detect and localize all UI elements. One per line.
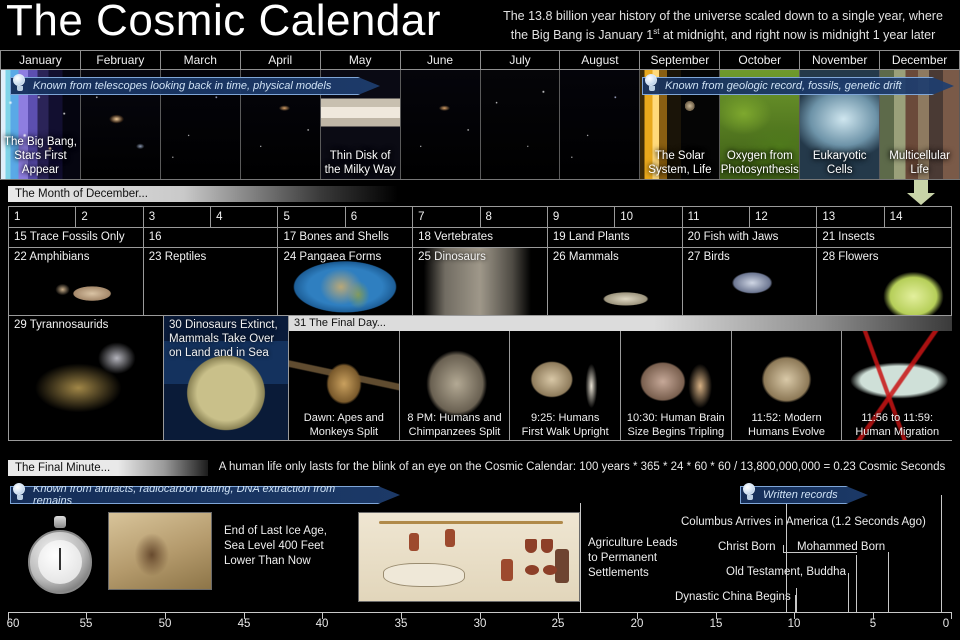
leader-line-columbus xyxy=(941,495,942,613)
day-cell-10[interactable]: 10 xyxy=(615,207,682,227)
tick-label: 15 xyxy=(710,618,723,630)
day-label: 14 xyxy=(885,207,951,224)
leader-line-agriculture xyxy=(580,503,581,613)
day-label: 29 Tyrannosaurids xyxy=(9,316,163,332)
day-label: 16 xyxy=(144,228,278,244)
day-label: 9 xyxy=(548,207,614,224)
caption-big-bang: The Big Bang,Stars First Appear xyxy=(1,135,80,177)
day-label: 3 xyxy=(144,207,210,224)
stopwatch-hand xyxy=(59,548,61,570)
year-cell-june xyxy=(401,70,481,179)
day-label: 10 xyxy=(615,207,681,224)
day-cell-5[interactable]: 5 xyxy=(278,207,345,227)
month-march[interactable]: March xyxy=(161,51,241,69)
day-label: 11 xyxy=(683,207,749,224)
day-cell-3[interactable]: 3 xyxy=(144,207,211,227)
banner-artifacts: Known from artifacts, radiocarbon dating… xyxy=(10,486,400,504)
day-cell-8[interactable]: 8 xyxy=(481,207,548,227)
day-cell-18[interactable]: 18 Vertebrates xyxy=(413,228,548,247)
day-cell-17[interactable]: 17 Bones and Shells xyxy=(278,228,413,247)
page-title: The Cosmic Calendar xyxy=(6,0,441,46)
month-november[interactable]: November xyxy=(800,51,880,69)
year-cell-august xyxy=(560,70,640,179)
december-arrow-shaft xyxy=(914,180,928,194)
december-days-22-28-row: 22 Amphibians 23 Reptiles 24 Pangaea For… xyxy=(8,247,952,315)
day-label: 1 xyxy=(9,207,75,224)
december-days-15-21-row: 15 Trace Fossils Only 16 17 Bones and Sh… xyxy=(8,227,952,247)
day-cell-14[interactable]: 14 xyxy=(885,207,952,227)
tick-label: 40 xyxy=(316,618,329,630)
caption-solar-system: The SolarSystem, Life xyxy=(640,149,719,177)
month-header-row: January February March April May June Ju… xyxy=(0,50,960,70)
day-label: 6 xyxy=(346,207,412,224)
day-label: 12 xyxy=(750,207,816,224)
lightbulb-icon-written xyxy=(743,483,756,503)
day-label: 22 Amphibians xyxy=(9,248,143,264)
day-cell-6[interactable]: 6 xyxy=(346,207,413,227)
banner-telescopes: Known from telescopes looking back in ti… xyxy=(10,77,380,95)
day-label: 28 Flowers xyxy=(817,248,951,264)
day-label: 18 Vertebrates xyxy=(413,228,547,244)
subtitle-line-2-post: at midnight, and right now is midnight 1… xyxy=(659,28,935,42)
day-label: 4 xyxy=(211,207,277,224)
month-december[interactable]: December xyxy=(880,51,960,69)
day-cell-21[interactable]: 21 Insects xyxy=(817,228,952,247)
month-june[interactable]: June xyxy=(401,51,481,69)
tick-label: 0 xyxy=(943,618,949,630)
tick-label: 5 xyxy=(870,618,876,630)
december-arrow-icon xyxy=(907,193,935,205)
day-label: 5 xyxy=(278,207,344,224)
tick-label: 60 xyxy=(7,618,20,630)
final-day-caption: 9:25: HumansFirst Walk Upright xyxy=(510,411,620,439)
tick-label: 20 xyxy=(631,618,644,630)
lightbulb-icon-telescopes xyxy=(13,74,26,94)
day-cell-24[interactable]: 24 Pangaea Forms xyxy=(278,248,413,315)
final-day-cell-dawn[interactable]: Dawn: Apes andMonkeys Split xyxy=(289,331,400,440)
day-cell-7[interactable]: 7 xyxy=(413,207,480,227)
final-day-cell-1030[interactable]: 10:30: Human BrainSize Begins Tripling xyxy=(621,331,732,440)
cosmic-calendar-infographic: The Cosmic Calendar The 13.8 billion yea… xyxy=(0,0,960,640)
leader-line-christ-stub xyxy=(783,545,784,553)
day-cell-4[interactable]: 4 xyxy=(211,207,278,227)
tick-label: 45 xyxy=(238,618,251,630)
leader-line-christ-horiz xyxy=(783,552,857,553)
day-label: 19 Land Plants xyxy=(548,228,682,244)
final-day-caption: 10:30: Human BrainSize Begins Tripling xyxy=(621,411,731,439)
tick-label: 25 xyxy=(552,618,565,630)
day-cell-1[interactable]: 1 xyxy=(9,207,76,227)
leader-line-old-testament xyxy=(848,573,849,613)
day-label: 20 Fish with Jaws xyxy=(683,228,817,244)
tyrannosaur-skeleton-image xyxy=(9,316,163,440)
day-label: 25 Dinosaurs xyxy=(413,248,547,264)
day-cell-12[interactable]: 12 xyxy=(750,207,817,227)
banner-artifacts-label: Known from artifacts, radiocarbon dating… xyxy=(33,483,374,507)
day-label: 23 Reptiles xyxy=(144,248,278,264)
tick-label: 10 xyxy=(788,618,801,630)
tick-label: 30 xyxy=(474,618,487,630)
final-day-strip: Dawn: Apes andMonkeys Split 8 PM: Humans… xyxy=(289,331,952,440)
final-day-caption: 8 PM: Humans andChimpanzees Split xyxy=(400,411,510,439)
banner-geologic: Known from geologic record, fossils, gen… xyxy=(642,77,954,95)
day-label: 21 Insects xyxy=(817,228,951,244)
month-february[interactable]: February xyxy=(81,51,161,69)
day-label: 27 Birds xyxy=(683,248,817,264)
month-september[interactable]: September xyxy=(640,51,720,69)
month-january[interactable]: January xyxy=(0,51,81,69)
tick-label: 35 xyxy=(395,618,408,630)
final-day-caption: 11:56 to 11:59:Human Migration xyxy=(842,411,952,439)
day-label: 26 Mammals xyxy=(548,248,682,264)
tick-label: 50 xyxy=(159,618,172,630)
lightbulb-icon-artifacts xyxy=(13,483,26,503)
lightbulb-icon-geologic xyxy=(645,74,658,94)
month-august[interactable]: August xyxy=(560,51,640,69)
subtitle-line-2-pre: the Big Bang is January 1 xyxy=(511,28,653,42)
stopwatch-image xyxy=(22,512,98,608)
day-cell-16[interactable]: 16 xyxy=(144,228,279,247)
december-days-1-14-row: 1 2 3 4 5 6 7 8 9 10 11 12 13 14 xyxy=(8,206,952,227)
egyptian-agriculture-image xyxy=(358,512,580,602)
ice-age-label: End of Last Ice Age,Sea Level 400 FeetLo… xyxy=(224,524,354,569)
month-april[interactable]: April xyxy=(241,51,321,69)
banner-written-label: Written records xyxy=(763,489,838,501)
day-cell-29[interactable]: 29 Tyrannosaurids xyxy=(9,316,164,440)
day-cell-13[interactable]: 13 xyxy=(817,207,884,227)
day-cell-20[interactable]: 20 Fish with Jaws xyxy=(683,228,818,247)
leader-line-mohammed xyxy=(888,552,889,613)
month-may[interactable]: May xyxy=(321,51,401,69)
december-grid: 1 2 3 4 5 6 7 8 9 10 11 12 13 14 15 Trac… xyxy=(8,206,952,441)
day-label: 7 xyxy=(413,207,479,224)
event-label-columbus: Columbus Arrives in America (1.2 Seconds… xyxy=(681,515,926,530)
stopwatch-face xyxy=(38,540,82,584)
day-cell-11[interactable]: 11 xyxy=(683,207,750,227)
final-day-cell-1156[interactable]: 11:56 to 11:59:Human Migration xyxy=(842,331,952,440)
stopwatch-body xyxy=(28,530,92,594)
day-cell-19[interactable]: 19 Land Plants xyxy=(548,228,683,247)
day-cell-30[interactable]: 30 Dinosaurs Extinct,Mammals Take Overon… xyxy=(164,316,289,440)
agriculture-label: Agriculture Leadsto PermanentSettlements xyxy=(588,536,693,581)
day-cell-23[interactable]: 23 Reptiles xyxy=(144,248,279,315)
december-section-heading: The Month of December... xyxy=(8,186,398,202)
day-cell-9[interactable]: 9 xyxy=(548,207,615,227)
caption-milky-way: Thin Disk ofthe Milky Way xyxy=(321,149,400,177)
final-day-caption: 11:52: ModernHumans Evolve xyxy=(732,411,842,439)
caption-multicellular: MulticellularLife xyxy=(880,149,959,177)
day-label: 2 xyxy=(76,207,142,224)
final-minute-note: A human life only lasts for the blink of… xyxy=(214,461,950,473)
day-label: 15 Trace Fossils Only xyxy=(9,228,143,244)
day-cell-27[interactable]: 27 Birds xyxy=(683,248,818,315)
final-day-heading: 31 The Final Day... xyxy=(289,316,952,331)
event-label-dynastic-china: Dynastic China Begins xyxy=(675,590,791,605)
leader-line-christ-vert xyxy=(856,555,857,613)
header: The Cosmic Calendar The 13.8 billion yea… xyxy=(0,0,960,50)
final-day-cell-8pm[interactable]: 8 PM: Humans andChimpanzees Split xyxy=(400,331,511,440)
day-label: 24 Pangaea Forms xyxy=(278,248,412,264)
day-label: 17 Bones and Shells xyxy=(278,228,412,244)
day-cell-26[interactable]: 26 Mammals xyxy=(548,248,683,315)
banner-geologic-label: Known from geologic record, fossils, gen… xyxy=(665,80,902,92)
caption-oxygen: Oxygen fromPhotosynthesis xyxy=(720,149,799,177)
final-day-cell-1152[interactable]: 11:52: ModernHumans Evolve xyxy=(732,331,843,440)
december-days-29-31-row: 29 Tyrannosaurids 30 Dinosaurs Extinct,M… xyxy=(8,315,952,441)
banner-telescopes-label: Known from telescopes looking back in ti… xyxy=(33,80,331,92)
caption-eukaryotic: EukaryoticCells xyxy=(800,149,879,177)
day-label: 30 Dinosaurs Extinct,Mammals Take Overon… xyxy=(164,316,288,360)
day-cell-22[interactable]: 22 Amphibians xyxy=(9,248,144,315)
final-day-cell-925[interactable]: 9:25: HumansFirst Walk Upright xyxy=(510,331,621,440)
day-cell-25[interactable]: 25 Dinosaurs xyxy=(413,248,548,315)
day-cell-2[interactable]: 2 xyxy=(76,207,143,227)
month-october[interactable]: October xyxy=(720,51,800,69)
day-cell-28[interactable]: 28 Flowers xyxy=(817,248,952,315)
stopwatch-crown xyxy=(54,516,66,528)
page-subtitle: The 13.8 billion year history of the uni… xyxy=(492,8,954,43)
banner-written-records: Written records xyxy=(740,486,868,504)
leader-line-written-records xyxy=(786,503,787,613)
tick-label: 55 xyxy=(80,618,93,630)
day-label: 13 xyxy=(817,207,883,224)
day-cell-15[interactable]: 15 Trace Fossils Only xyxy=(9,228,144,247)
cave-painting-image xyxy=(108,512,212,590)
year-cell-july xyxy=(481,70,561,179)
day-cell-31[interactable]: 31 The Final Day... Dawn: Apes andMonkey… xyxy=(289,316,952,440)
leader-line-dynastic-china xyxy=(796,588,797,613)
final-minute-heading: The Final Minute... xyxy=(8,460,208,476)
month-july[interactable]: July xyxy=(481,51,561,69)
final-day-caption: Dawn: Apes andMonkeys Split xyxy=(289,411,399,439)
day-label: 8 xyxy=(481,207,547,224)
subtitle-line-1: The 13.8 billion year history of the uni… xyxy=(503,9,943,23)
event-label-christ: Christ Born xyxy=(718,540,776,555)
